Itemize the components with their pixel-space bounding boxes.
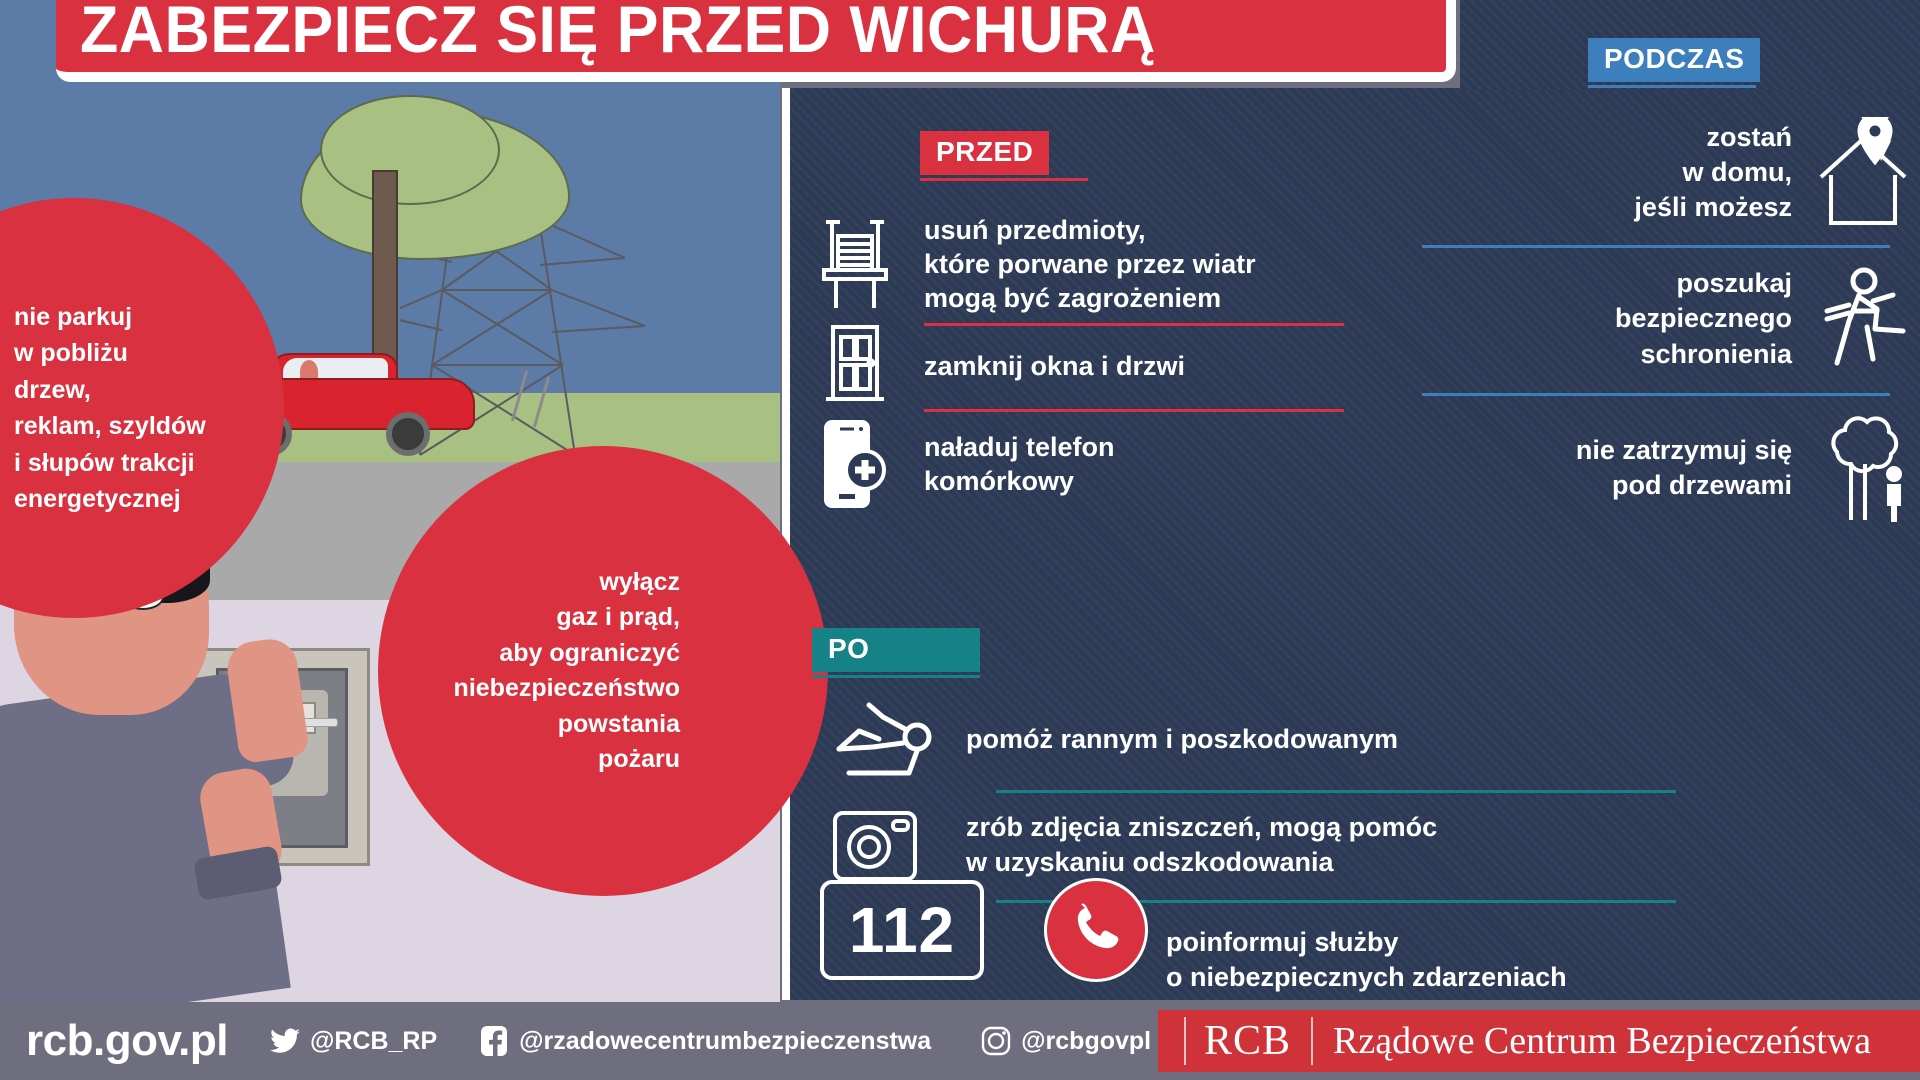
emergency-number-box: 112 — [820, 880, 984, 980]
emergency-phone-icon — [1044, 878, 1148, 982]
note-line: wyłącz — [404, 565, 680, 601]
twitter-handle: @RCB_RP — [310, 1027, 437, 1056]
badge-po: PO — [812, 628, 980, 672]
running-person-icon — [1810, 267, 1920, 371]
przed-item-charge-phone: naładuj telefon komórkowy — [800, 409, 1360, 519]
podczas-item-avoid-trees: nie zatrzymuj się pod drzewami — [1400, 393, 1920, 543]
text-line: które porwane przez wiatr — [924, 247, 1256, 281]
footer-website-url[interactable]: rcb.gov.pl — [26, 1016, 228, 1066]
text-line: naładuj telefon — [924, 430, 1115, 464]
door-icon — [800, 323, 910, 409]
przed-item-remove-objects: usuń przedmioty, które porwane przez wia… — [800, 205, 1360, 323]
text-line: w uzyskaniu odszkodowania — [966, 845, 1437, 880]
mobile-phone-charge-icon — [800, 418, 910, 510]
infographic-poster: ZABEZPIECZ SIĘ PRZED WICHURĄ PRZED PO PO… — [0, 0, 1920, 1080]
podczas-item-text: zostań w domu, jeśli możesz — [1634, 120, 1810, 225]
text-line: zostań — [1634, 120, 1792, 155]
camera-icon — [800, 805, 950, 885]
podczas-item-text: nie zatrzymuj się pod drzewami — [1576, 433, 1810, 503]
brand-abbreviation: RCB — [1204, 1017, 1291, 1065]
text-line: nie zatrzymuj się — [1576, 433, 1792, 468]
text-line: jeśli możesz — [1634, 190, 1792, 225]
text-line: o niebezpiecznych zdarzeniach — [1166, 960, 1567, 995]
brand-full-name: Rządowe Centrum Bezpieczeństwa — [1333, 1019, 1871, 1063]
podczas-item-text: poszukaj bezpiecznego schronienia — [1615, 266, 1810, 371]
note-line: aby ograniczyć — [404, 636, 680, 672]
car-wheel-rear — [386, 412, 430, 456]
instagram-icon — [979, 1024, 1013, 1058]
social-instagram[interactable]: @rcbgovpl — [979, 1024, 1151, 1058]
tree-person-icon — [1810, 412, 1920, 524]
po-item-text: zrób zdjęcia zniszczeń, mogą pomóc w uzy… — [950, 810, 1437, 880]
brand-divider — [1311, 1017, 1313, 1065]
text-line: w domu, — [1634, 155, 1792, 190]
separator-teal — [996, 790, 1676, 793]
text-line: zamknij okna i drzwi — [924, 349, 1185, 383]
po-item-text: poinformuj służby o niebezpiecznych zdar… — [1150, 925, 1567, 995]
text-line: mogą być zagrożeniem — [924, 281, 1256, 315]
badge-przed: PRZED — [920, 131, 1049, 175]
badge-przed-underline — [920, 178, 1088, 181]
note-line: reklam, szyldów — [14, 408, 260, 445]
badge-podczas: PODCZAS — [1588, 38, 1760, 82]
tree-crown-top — [320, 95, 500, 205]
injured-person-icon — [800, 699, 950, 781]
page-title: ZABEZPIECZ SIĘ PRZED WICHURĄ — [80, 0, 1156, 62]
note-line: i słupów trakcji — [14, 445, 260, 482]
separator-blue — [1422, 245, 1890, 248]
note-line: nie parkuj — [14, 299, 260, 336]
emergency-number-112: 112 — [849, 898, 955, 962]
note-line: drzew, — [14, 372, 260, 409]
text-line: poszukaj — [1615, 266, 1792, 301]
podczas-item-seek-shelter: poszukaj bezpiecznego schronienia — [1400, 245, 1920, 393]
text-line: poinformuj służby — [1166, 925, 1567, 960]
brand-divider — [1184, 1017, 1186, 1065]
text-line: usuń przedmioty, — [924, 213, 1256, 247]
przed-item-text: zamknij okna i drzwi — [910, 349, 1185, 383]
title-banner: ZABEZPIECZ SIĘ PRZED WICHURĄ — [56, 0, 1456, 82]
text-line: pomóż rannym i poszkodowanym — [966, 722, 1398, 757]
po-item-text: pomóż rannym i poszkodowanym — [950, 722, 1398, 757]
note-line: niebezpieczeństwo — [404, 671, 680, 707]
text-line: komórkowy — [924, 464, 1115, 498]
text-line: zrób zdjęcia zniszczeń, mogą pomóc — [966, 810, 1437, 845]
text-line: bezpiecznego — [1615, 301, 1792, 336]
text-line: schronienia — [1615, 337, 1792, 372]
note-line: w pobliżu — [14, 335, 260, 372]
note-line: gaz i prąd, — [404, 600, 680, 636]
rcb-brand-bar: RCB Rządowe Centrum Bezpieczeństwa — [1158, 1010, 1920, 1072]
social-twitter[interactable]: @RCB_RP — [268, 1024, 437, 1058]
przed-item-text: usuń przedmioty, które porwane przez wia… — [910, 213, 1256, 315]
po-item-help-injured: pomóż rannym i poszkodowanym — [800, 690, 1900, 790]
separator-blue — [1422, 393, 1890, 396]
note-line: pożaru — [404, 742, 680, 778]
social-facebook[interactable]: @rzadowecentrumbezpieczenstwa — [477, 1024, 931, 1058]
twitter-icon — [268, 1024, 302, 1058]
facebook-handle: @rzadowecentrumbezpieczenstwa — [519, 1027, 931, 1056]
badge-po-underline — [812, 675, 980, 678]
note-line: powstania — [404, 707, 680, 743]
turn-off-gas-note: wyłącz gaz i prąd, aby ograniczyć niebez… — [378, 446, 828, 896]
text-line: pod drzewami — [1576, 468, 1792, 503]
przed-item-close-windows: zamknij okna i drzwi — [800, 323, 1360, 409]
house-pin-icon — [1810, 117, 1920, 229]
facebook-icon — [477, 1024, 511, 1058]
badge-podczas-underline — [1588, 85, 1756, 88]
section-przed: usuń przedmioty, które porwane przez wia… — [800, 205, 1360, 519]
note-line: energetycznej — [14, 481, 260, 518]
przed-item-text: naładuj telefon komórkowy — [910, 430, 1115, 498]
chair-icon — [800, 218, 910, 310]
instagram-handle: @rcbgovpl — [1021, 1027, 1151, 1056]
section-podczas: zostań w domu, jeśli możesz poszukaj bez… — [1400, 100, 1920, 543]
podczas-item-stay-home: zostań w domu, jeśli możesz — [1400, 100, 1920, 245]
